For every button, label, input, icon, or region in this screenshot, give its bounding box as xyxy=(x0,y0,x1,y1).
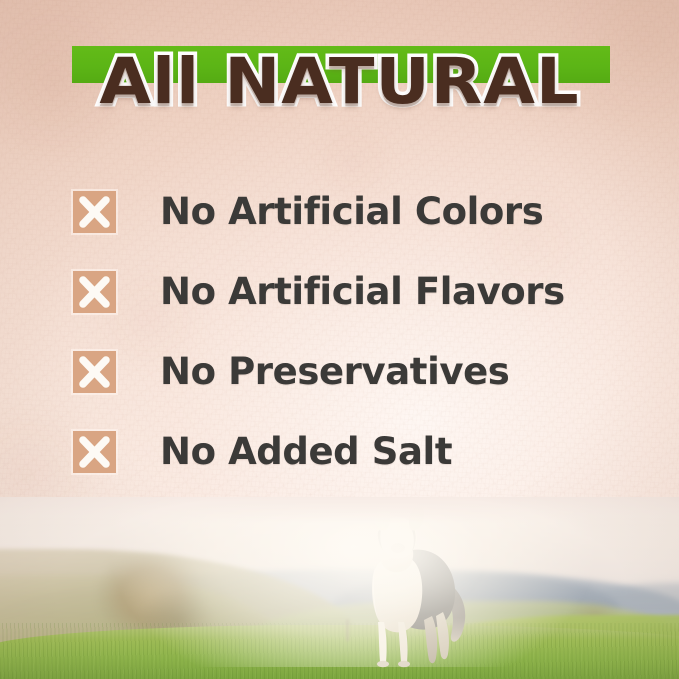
claim-item: No Artificial Flavors xyxy=(0,252,679,332)
claims-list: No Artificial Colors No Artificial Flavo… xyxy=(0,172,679,492)
x-mark-icon xyxy=(73,191,116,233)
all-natural-product-poster: All NATURAL No Artificial Colors xyxy=(0,0,679,679)
x-mark-icon xyxy=(73,351,116,393)
claim-label: No Artificial Colors xyxy=(160,191,543,233)
claim-label: No Added Salt xyxy=(160,431,452,473)
dog-landscape-photo xyxy=(0,497,679,679)
claim-item: No Preservatives xyxy=(0,332,679,412)
headline-banner: All NATURAL xyxy=(0,46,679,142)
claim-label: No Preservatives xyxy=(160,351,509,393)
claim-label: No Artificial Flavors xyxy=(160,271,565,313)
claim-item: No Artificial Colors xyxy=(0,172,679,252)
headline-title: All NATURAL xyxy=(0,46,679,118)
x-mark-icon xyxy=(73,271,116,313)
claim-item: No Added Salt xyxy=(0,412,679,492)
x-mark-icon xyxy=(73,431,116,473)
photo-vignette xyxy=(0,497,679,679)
